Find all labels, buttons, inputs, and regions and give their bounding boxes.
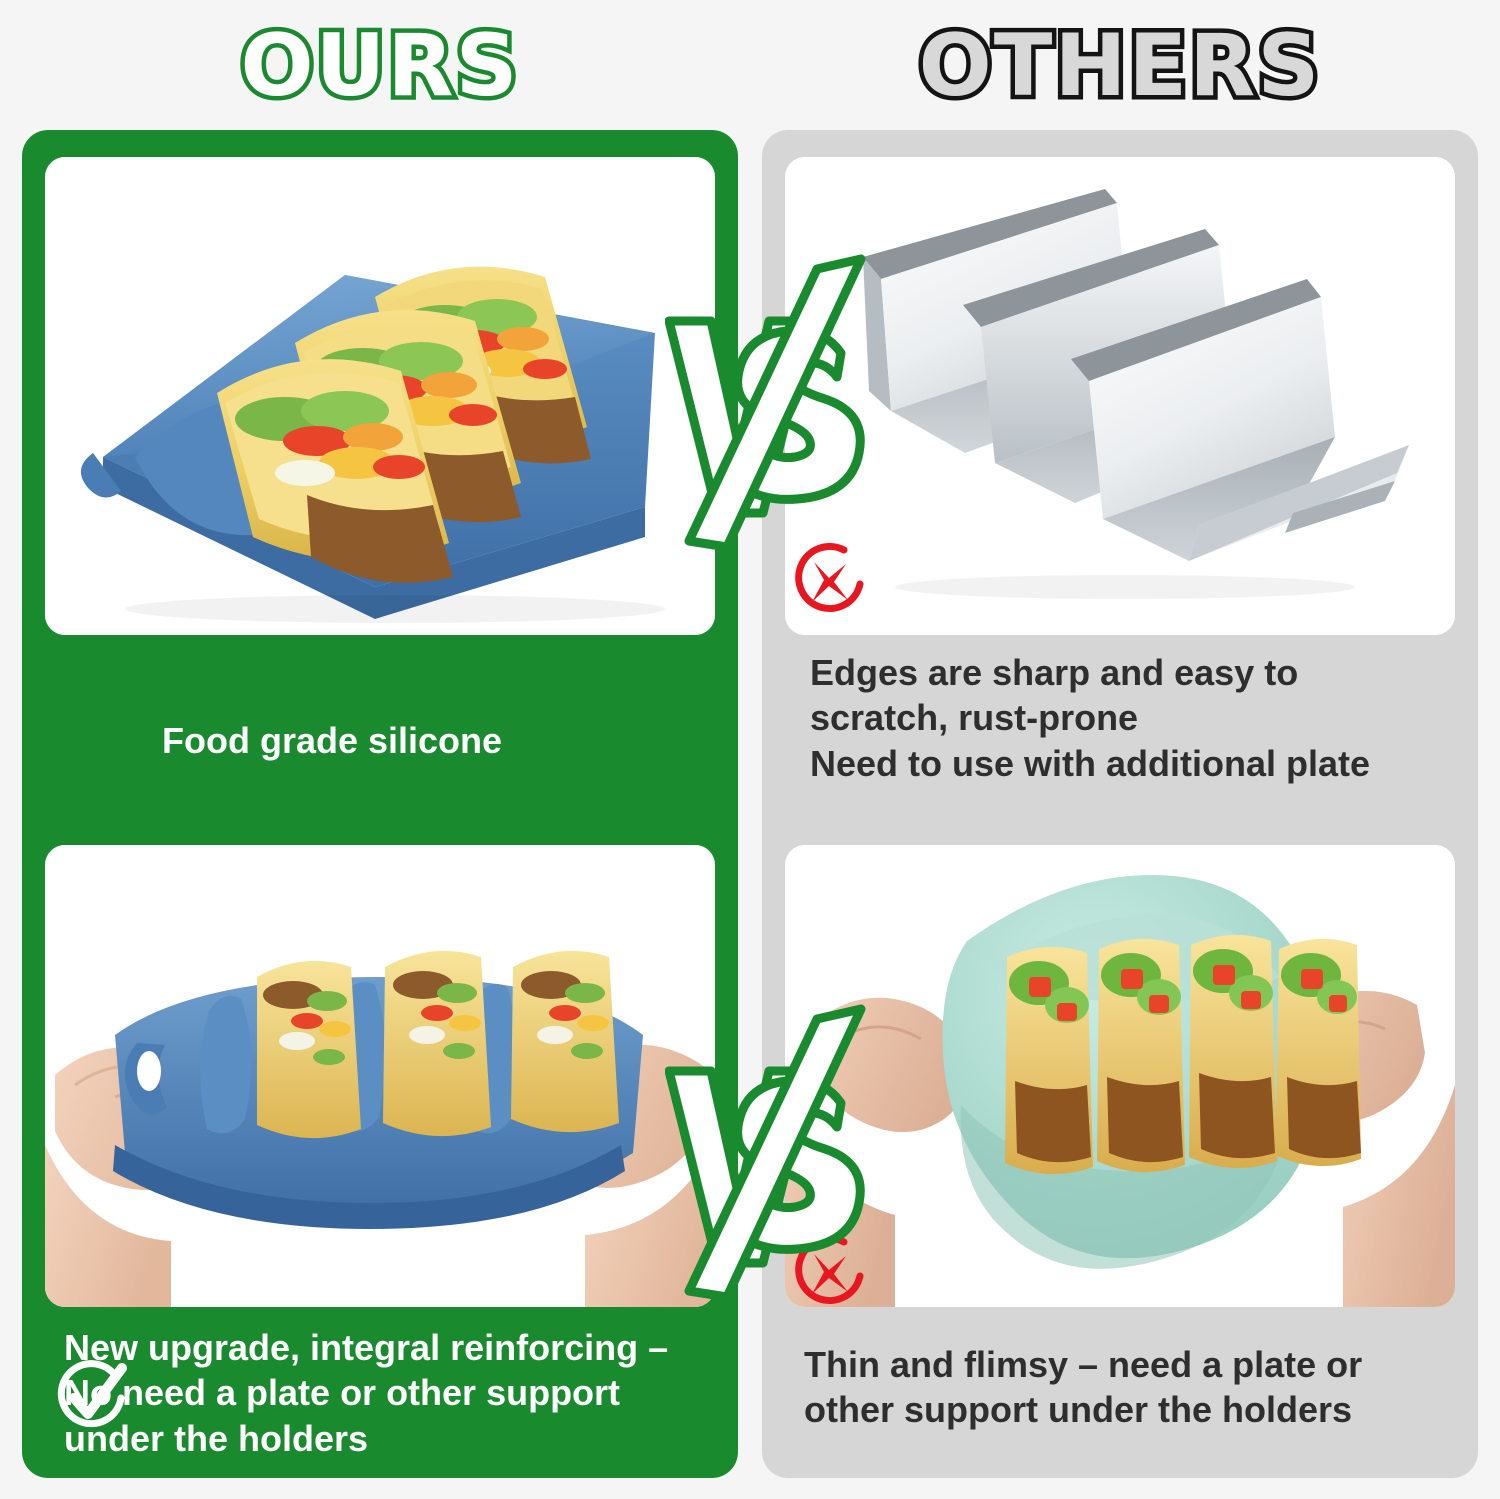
panel-ours: Food grade silicone [22, 130, 738, 1478]
heading-others-label: OTHERS [919, 16, 1322, 116]
ours-top-image-card [45, 157, 715, 635]
cross-icon [790, 1232, 868, 1310]
check-icon [52, 666, 130, 744]
ours-top-caption: Food grade silicone [162, 718, 502, 763]
others-top-image-card [785, 157, 1455, 635]
stainless-steel-taco-rack-illustration [785, 157, 1455, 635]
blue-silicone-taco-tray-illustration [45, 157, 715, 635]
panel-others: Edges are sharp and easy to scratch, rus… [762, 130, 1478, 1478]
hands-holding-blue-tray-illustration [45, 845, 715, 1307]
others-bottom-image-card [785, 845, 1455, 1307]
ours-bottom-caption: New upgrade, integral reinforcing – No n… [64, 1325, 704, 1461]
heading-ours: OURS [22, 16, 738, 116]
cross-badge-others-bottom [790, 1232, 868, 1310]
ours-bottom-image-card [45, 845, 715, 1307]
heading-ours-label: OURS [240, 16, 519, 116]
others-top-caption: Edges are sharp and easy to scratch, rus… [810, 650, 1430, 786]
comparison-infographic: OURS OTHERS [0, 0, 1500, 1499]
cross-badge-others-top [790, 540, 868, 618]
check-badge-ours-top [52, 666, 130, 744]
others-bottom-caption: Thin and flimsy – need a plate or other … [804, 1342, 1444, 1433]
cross-icon [790, 540, 868, 618]
heading-others: OTHERS [762, 16, 1478, 116]
hands-holding-mint-taco-holder-illustration [785, 845, 1455, 1307]
